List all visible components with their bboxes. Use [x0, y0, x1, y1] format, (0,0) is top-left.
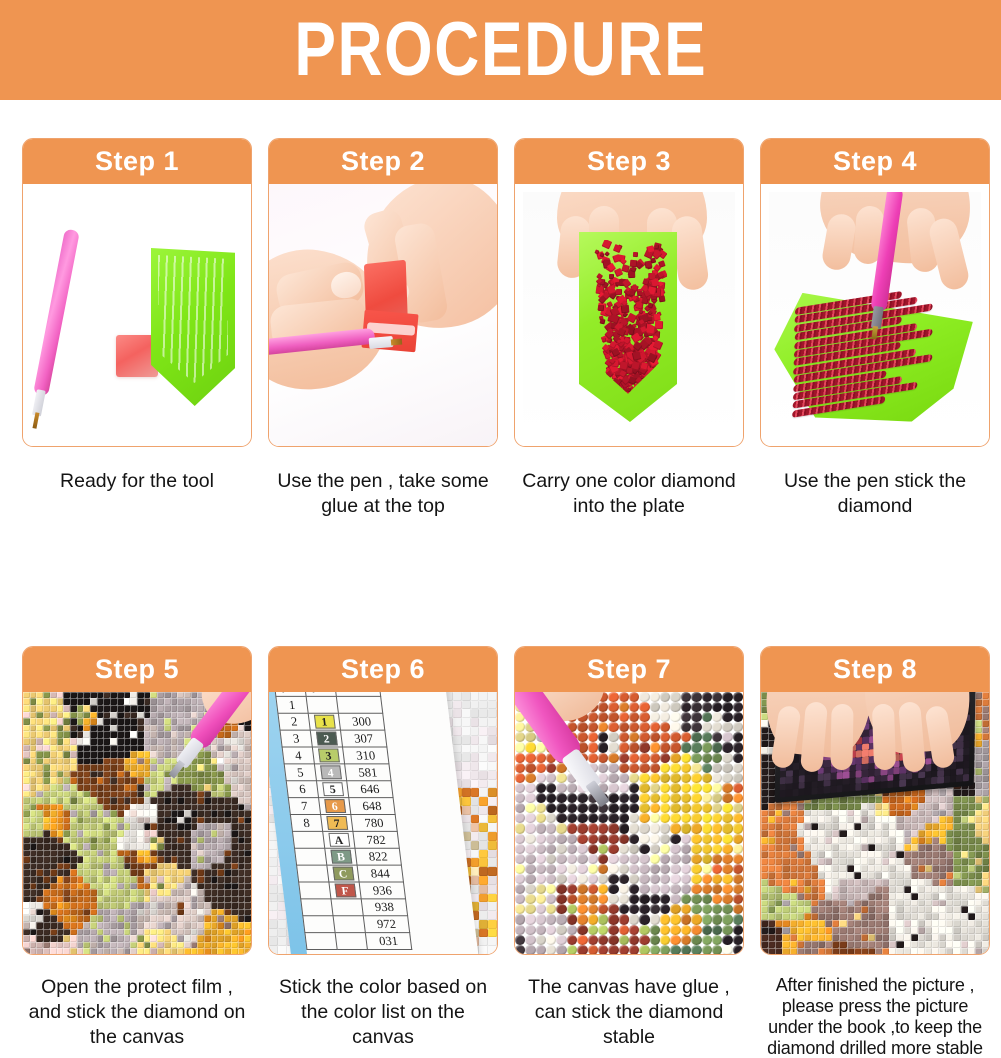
step-caption-8: After finished the picture , please pres… — [760, 975, 990, 1058]
step-cell-8: Step 8 — [760, 646, 990, 1058]
pink-pen-icon — [31, 229, 80, 428]
step-cell-7: Step 7 The canvas have glue , can stick … — [514, 646, 744, 1058]
step-cell-2: Step 2 — [268, 138, 498, 519]
dip-pen-in-glue-illustration — [269, 184, 497, 447]
color-chart-row: 1 — [276, 696, 383, 713]
step-caption-7: The canvas have glue , can stick the dia… — [514, 975, 744, 1050]
step-image-1 — [23, 184, 251, 447]
step-label-8: Step 8 — [833, 656, 917, 683]
step-label-7: Step 7 — [587, 656, 671, 683]
step-cell-3: Step 3 Carry one color diamond into the … — [514, 138, 744, 519]
step-header-3: Step 3 — [515, 139, 743, 184]
step-card-8: Step 8 — [760, 646, 990, 955]
step-caption-1: Ready for the tool — [22, 469, 252, 494]
color-chart-row: 87780 — [290, 814, 397, 831]
tray-with-drills-illustration — [523, 192, 735, 439]
procedure-infographic: PROCEDURE Step 1 — [0, 0, 1001, 1001]
step-image-3 — [515, 184, 743, 447]
color-chart-row: 43310 — [282, 747, 389, 764]
color-chart-row: 031 — [305, 932, 412, 949]
step-image-6: SymbolSymbolDMC1213003230743310545816564… — [269, 692, 497, 955]
color-chart-row: F936 — [299, 882, 406, 899]
step-label-2: Step 2 — [341, 148, 425, 175]
steps-grid: Step 1 Ready for the tool — [22, 138, 989, 1058]
page-banner: PROCEDURE — [0, 0, 1001, 100]
step-label-4: Step 4 — [833, 148, 917, 175]
color-chart-row: 54581 — [284, 764, 391, 781]
step-header-5: Step 5 — [23, 647, 251, 692]
step-label-3: Step 3 — [587, 148, 671, 175]
color-chart-row: 32307 — [280, 730, 387, 747]
step-image-2 — [269, 184, 497, 447]
step-cell-5: Step 5 Open the protect film , and stick… — [22, 646, 252, 1058]
step-header-1: Step 1 — [23, 139, 251, 184]
step-header-2: Step 2 — [269, 139, 497, 184]
color-chart-row: 21300 — [278, 713, 385, 730]
step-card-6: Step 6 SymbolSymbolDMC121300323074331054… — [268, 646, 498, 955]
step-card-5: Step 5 — [22, 646, 252, 955]
pen-tip — [369, 336, 394, 349]
color-chart-row: A782 — [292, 831, 399, 848]
step-header-7: Step 7 — [515, 647, 743, 692]
pressing-book-illustration — [761, 692, 989, 955]
step-caption-2: Use the pen , take some glue at the top — [268, 469, 498, 519]
step-label-5: Step 5 — [95, 656, 179, 683]
step-card-3: Step 3 — [514, 138, 744, 447]
step-cell-1: Step 1 Ready for the tool — [22, 138, 252, 519]
color-chart-row: 65646 — [286, 781, 393, 798]
color-chart-row: 938 — [301, 899, 408, 916]
step-card-1: Step 1 — [22, 138, 252, 447]
step-image-5 — [23, 692, 251, 955]
step-header-4: Step 4 — [761, 139, 989, 184]
step-header-6: Step 6 — [269, 647, 497, 692]
step-image-8 — [761, 692, 989, 955]
step-cell-6: Step 6 SymbolSymbolDMC121300323074331054… — [268, 646, 498, 1058]
sunflower-mosaic-illustration — [23, 692, 251, 955]
color-list-chart: SymbolSymbolDMC1213003230743310545816564… — [269, 692, 481, 955]
color-chart-row: C844 — [297, 865, 404, 882]
step-caption-6: Stick the color based on the color list … — [268, 975, 498, 1050]
step-caption-3: Carry one color diamond into the plate — [514, 469, 744, 519]
step-header-8: Step 8 — [761, 647, 989, 692]
color-chart-row: 76648 — [288, 798, 395, 815]
color-chart-row: B822 — [295, 848, 402, 865]
row-gap — [22, 519, 990, 646]
color-chart-illustration: SymbolSymbolDMC1213003230743310545816564… — [269, 692, 497, 955]
step-cell-4: Step 4 — [760, 138, 990, 519]
round-drill-closeup-illustration — [515, 692, 743, 955]
pen-needle — [391, 339, 402, 346]
step-card-2: Step 2 — [268, 138, 498, 447]
step-image-7 — [515, 692, 743, 955]
step-caption-5: Open the protect film , and stick the di… — [22, 975, 252, 1050]
tool-set-illustration — [31, 192, 243, 439]
page-title: PROCEDURE — [294, 12, 707, 88]
color-chart-row: 972 — [303, 916, 410, 933]
pen-picking-drill-illustration — [769, 192, 981, 439]
step-caption-4: Use the pen stick the diamond — [760, 469, 990, 519]
step-card-4: Step 4 — [760, 138, 990, 447]
step-label-6: Step 6 — [341, 656, 425, 683]
step-card-7: Step 7 — [514, 646, 744, 955]
step-label-1: Step 1 — [95, 148, 179, 175]
step-image-4 — [761, 184, 989, 447]
